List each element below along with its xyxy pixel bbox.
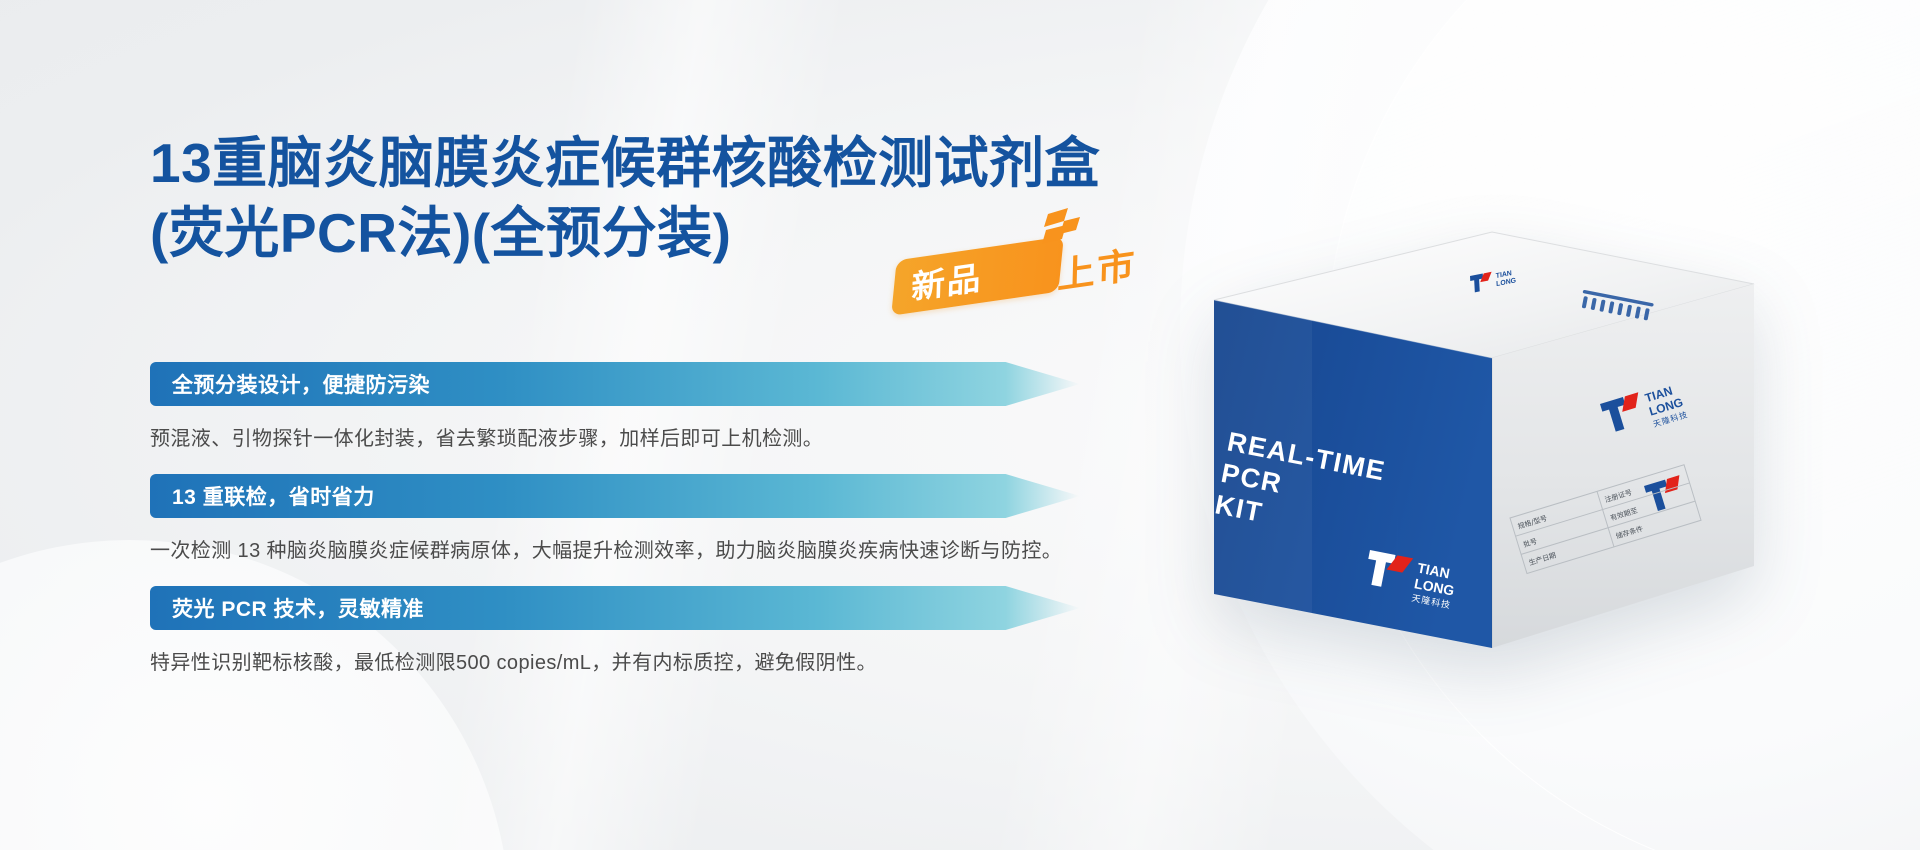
feature-heading-bar: 荧光 PCR 技术，灵敏精准 <box>150 586 1080 630</box>
feature-item: 全预分装设计，便捷防污染 预混液、引物探针一体化封装，省去繁琐配液步骤，加样后即… <box>150 362 1130 458</box>
feature-heading-text: 荧光 PCR 技术，灵敏精准 <box>172 593 424 623</box>
product-box-image: TIAN LONG REAL-TIME <box>1192 218 1782 698</box>
feature-item: 荧光 PCR 技术，灵敏精准 特异性识别靶标核酸，最低检测限500 copies… <box>150 586 1130 682</box>
feature-body-text: 一次检测 13 种脑炎脑膜炎症候群病原体，大幅提升检测效率，助力脑炎脑膜炎疾病快… <box>150 532 1080 570</box>
feature-heading-bar: 13 重联检，省时省力 <box>150 474 1080 518</box>
title-line-1: 13重脑炎脑膜炎症候群核酸检测试剂盒 <box>150 132 1100 194</box>
feature-list: 全预分装设计，便捷防污染 预混液、引物探针一体化封装，省去繁琐配液步骤，加样后即… <box>150 362 1130 682</box>
feature-item: 13 重联检，省时省力 一次检测 13 种脑炎脑膜炎症候群病原体，大幅提升检测效… <box>150 474 1130 570</box>
new-product-badge: 新品 上市 <box>888 206 1143 316</box>
feature-body-text: 特异性识别靶标核酸，最低检测限500 copies/mL，并有内标质控，避免假阴… <box>150 644 1080 682</box>
badge-word-launch: 上市 <box>1057 235 1138 300</box>
feature-heading-text: 13 重联检，省时省力 <box>172 481 375 511</box>
feature-heading-text: 全预分装设计，便捷防污染 <box>172 369 430 399</box>
feature-body-text: 预混液、引物探针一体化封装，省去繁琐配液步骤，加样后即可上机检测。 <box>150 420 1080 458</box>
promo-banner: 13重脑炎脑膜炎症候群核酸检测试剂盒 (荧光PCR法)(全预分装) 新品 上市 … <box>0 0 1920 850</box>
feature-heading-bar: 全预分装设计，便捷防污染 <box>150 362 1080 406</box>
product-box-svg: TIAN LONG REAL-TIME <box>1192 218 1782 698</box>
